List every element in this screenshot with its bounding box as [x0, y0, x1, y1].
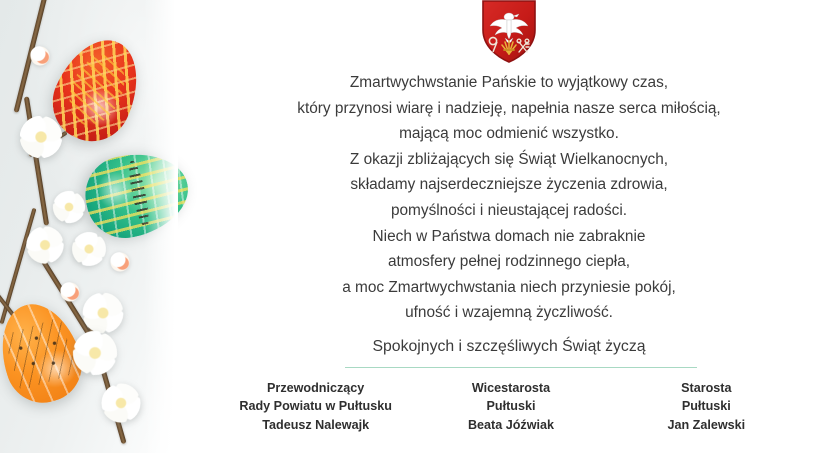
- message-line: składamy najserdeczniejsze życzenia zdro…: [178, 172, 840, 198]
- blossom-bud-icon: [110, 252, 130, 272]
- signature-title-line: Pułtuski: [609, 397, 804, 415]
- message-line: pomyślności i nieustającej radości.: [178, 198, 840, 224]
- signature-chairman: Przewodniczący Rady Powiatu w Pułtusku T…: [218, 379, 413, 434]
- signature-name: Tadeusz Nalewajk: [218, 416, 413, 434]
- message-line: atmosfery pełnej rodzinnego ciepła,: [178, 249, 840, 275]
- signature-block: Przewodniczący Rady Powiatu w Pułtusku T…: [178, 379, 840, 434]
- blossom-bud-icon: [60, 282, 80, 302]
- signature-starosta: Starosta Pułtuski Jan Zalewski: [609, 379, 804, 434]
- signature-vice-starosta: Wicestarosta Pułtuski Beata Jóźwiak: [413, 379, 608, 434]
- easter-eggs-photo: [0, 0, 178, 453]
- message-line: Z okazji zbliżających się Świąt Wielkano…: [178, 147, 840, 173]
- message-line: Zmartwychwstanie Pańskie to wyjątkowy cz…: [178, 70, 840, 96]
- signature-title-line: Starosta: [609, 379, 804, 397]
- blossom-icon: [49, 187, 90, 228]
- blossom-bud-icon: [30, 46, 50, 66]
- easter-greeting-card: Zmartwychwstanie Pańskie to wyjątkowy cz…: [0, 0, 840, 453]
- card-content: Zmartwychwstanie Pańskie to wyjątkowy cz…: [178, 0, 840, 453]
- message-line: mającą moc odmienić wszystko.: [178, 121, 840, 147]
- message-line: Niech w Państwa domach nie zabraknie: [178, 224, 840, 250]
- message-line: ufność i wzajemną życzliwość.: [178, 300, 840, 326]
- signature-title-line: Rady Powiatu w Pułtusku: [218, 397, 413, 415]
- signature-title-line: Wicestarosta: [413, 379, 608, 397]
- signature-name: Jan Zalewski: [609, 416, 804, 434]
- blossom-icon: [96, 378, 147, 429]
- greeting-message: Zmartwychwstanie Pańskie to wyjątkowy cz…: [178, 70, 840, 326]
- coat-of-arms: [178, 0, 840, 64]
- signature-title-line: Pułtuski: [413, 397, 608, 415]
- divider: [345, 367, 697, 368]
- blossom-icon: [20, 116, 63, 159]
- signature-name: Beata Jóźwiak: [413, 416, 608, 434]
- closing-line: Spokojnych i szczęśliwych Świąt życzą: [178, 336, 840, 358]
- message-line: a moc Zmartwychwstania niech przyniesie …: [178, 275, 840, 301]
- signature-title-line: Przewodniczący: [218, 379, 413, 397]
- message-line: który przynosi wiarę i nadzieję, napełni…: [178, 96, 840, 122]
- coat-of-arms-icon: [477, 0, 541, 64]
